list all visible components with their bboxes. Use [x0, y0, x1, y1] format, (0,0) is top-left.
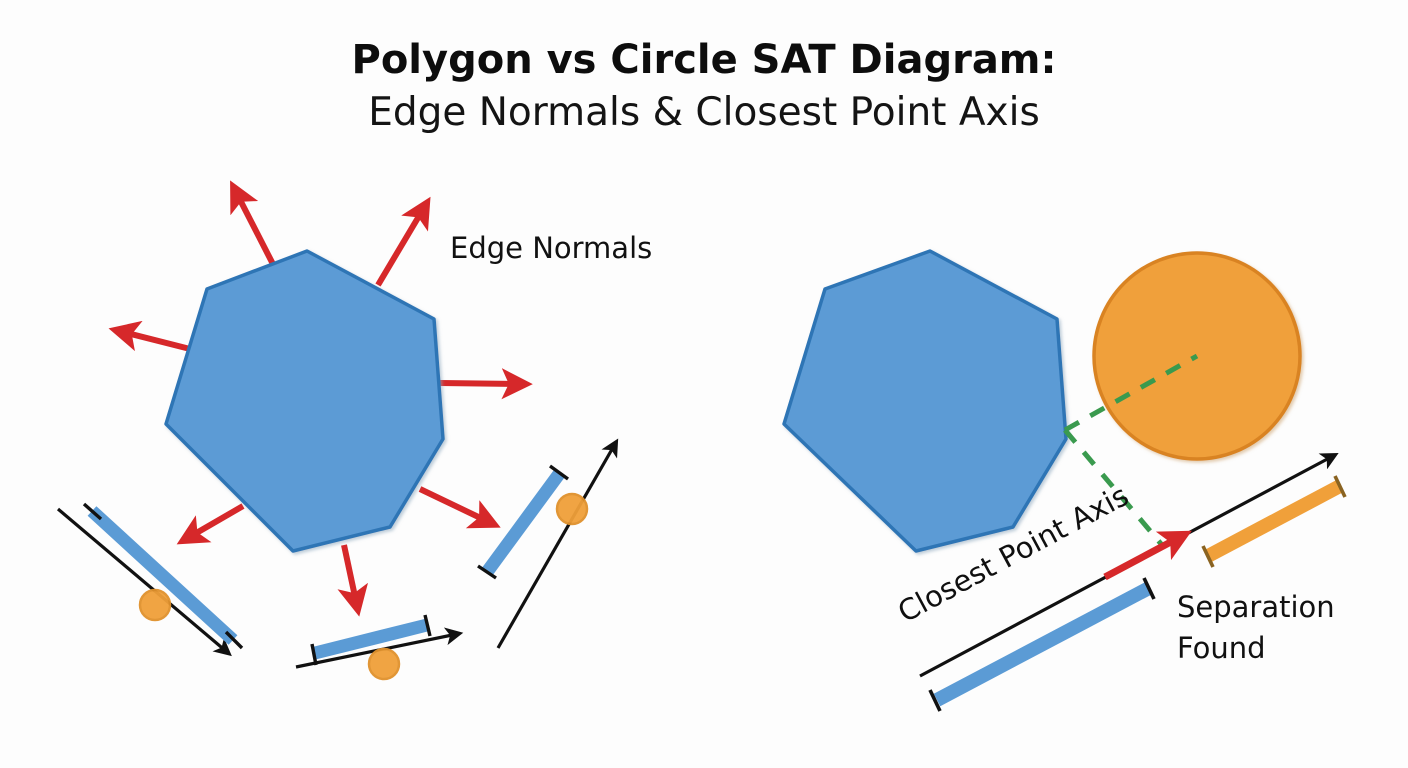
- right-panel-closest-point: Closest Point Axis Separation Found: [784, 251, 1345, 711]
- separation-found-label-line1: Separation: [1177, 590, 1335, 624]
- sat-diagram-svg: Polygon vs Circle SAT Diagram: Edge Norm…: [0, 0, 1408, 768]
- title-line-1: Polygon vs Circle SAT Diagram:: [352, 37, 1057, 83]
- right-polygon: [784, 251, 1066, 551]
- circle-projection-bar: [1208, 486, 1340, 556]
- polygon-projection-bar: [315, 625, 427, 653]
- normal-down-arrow: [344, 545, 357, 606]
- edge-normals-label: Edge Normals: [450, 231, 652, 265]
- normal-lower-left-arrow: [186, 506, 243, 539]
- left-panel-edge-normals: Edge Normals: [58, 190, 652, 679]
- normal-upper-right-arrow: [378, 206, 425, 285]
- polygon-projection-bar: [92, 511, 233, 640]
- normal-lower-right-arrow: [420, 489, 491, 523]
- separation-found-label-line2: Found: [1177, 631, 1266, 665]
- page-title: Polygon vs Circle SAT Diagram: Edge Norm…: [352, 37, 1057, 135]
- diagram-canvas: Polygon vs Circle SAT Diagram: Edge Norm…: [0, 0, 1408, 768]
- title-line-2: Edge Normals & Closest Point Axis: [368, 90, 1040, 135]
- circle-projection-dot: [557, 494, 587, 524]
- normal-right-arrow: [440, 383, 522, 384]
- projection-axis-lower-right: [478, 444, 615, 648]
- normal-upper-left-arrow: [119, 331, 194, 350]
- left-polygon: [166, 251, 443, 551]
- polygon-projection-bar: [937, 588, 1149, 700]
- circle-projection-dot: [369, 649, 399, 679]
- projection-axis-bottom-middle: [296, 615, 457, 679]
- normal-up-arrow: [235, 190, 277, 272]
- circle-projection-dot: [140, 590, 170, 620]
- separation-gap-arrow: [1105, 536, 1182, 577]
- projection-axis-lower-left: [58, 504, 242, 652]
